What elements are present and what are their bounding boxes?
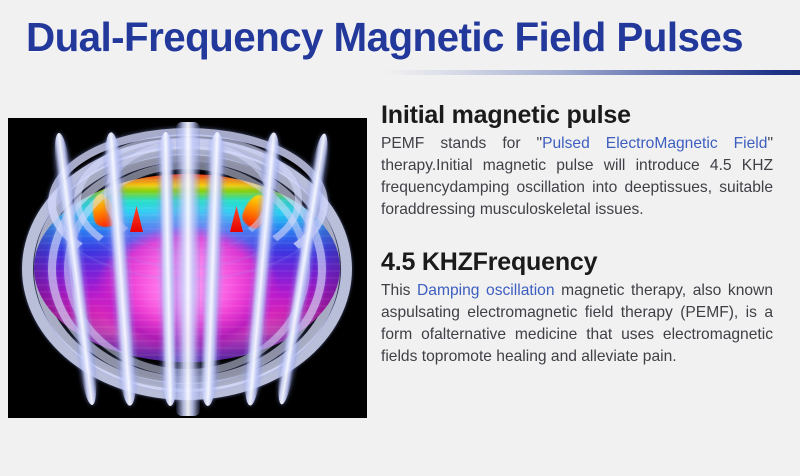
section-2-heading: 4.5 KHZFrequency — [381, 247, 773, 277]
section-2-text-part1: This — [381, 282, 417, 299]
section-frequency: 4.5 KHZFrequency This Damping oscillatio… — [381, 247, 773, 368]
text-column: Initial magnetic pulse PEMF stands for "… — [381, 100, 773, 368]
page-header: Dual-Frequency Magnetic Field Pulses — [0, 0, 800, 88]
section-2-body: This Damping oscillation magnetic therap… — [381, 280, 773, 368]
title-underline-rule — [0, 70, 800, 75]
section-2-highlight-damping-oscillation: Damping oscillation — [417, 282, 554, 299]
central-solenoid-column — [176, 122, 200, 416]
section-initial-magnetic-pulse: Initial magnetic pulse PEMF stands for "… — [381, 100, 773, 221]
main-content: Initial magnetic pulse PEMF stands for "… — [0, 88, 800, 476]
page-title: Dual-Frequency Magnetic Field Pulses — [26, 14, 765, 61]
torus-stage — [8, 118, 367, 418]
tokamak-plasma-figure — [8, 118, 367, 418]
section-1-body: PEMF stands for "Pulsed ElectroMagnetic … — [381, 133, 773, 221]
section-1-text-part1: PEMF stands for " — [381, 135, 542, 152]
section-1-heading: Initial magnetic pulse — [381, 100, 773, 130]
section-1-highlight-pulsed-electromagnetic-field: Pulsed ElectroMagnetic Field — [542, 135, 767, 152]
